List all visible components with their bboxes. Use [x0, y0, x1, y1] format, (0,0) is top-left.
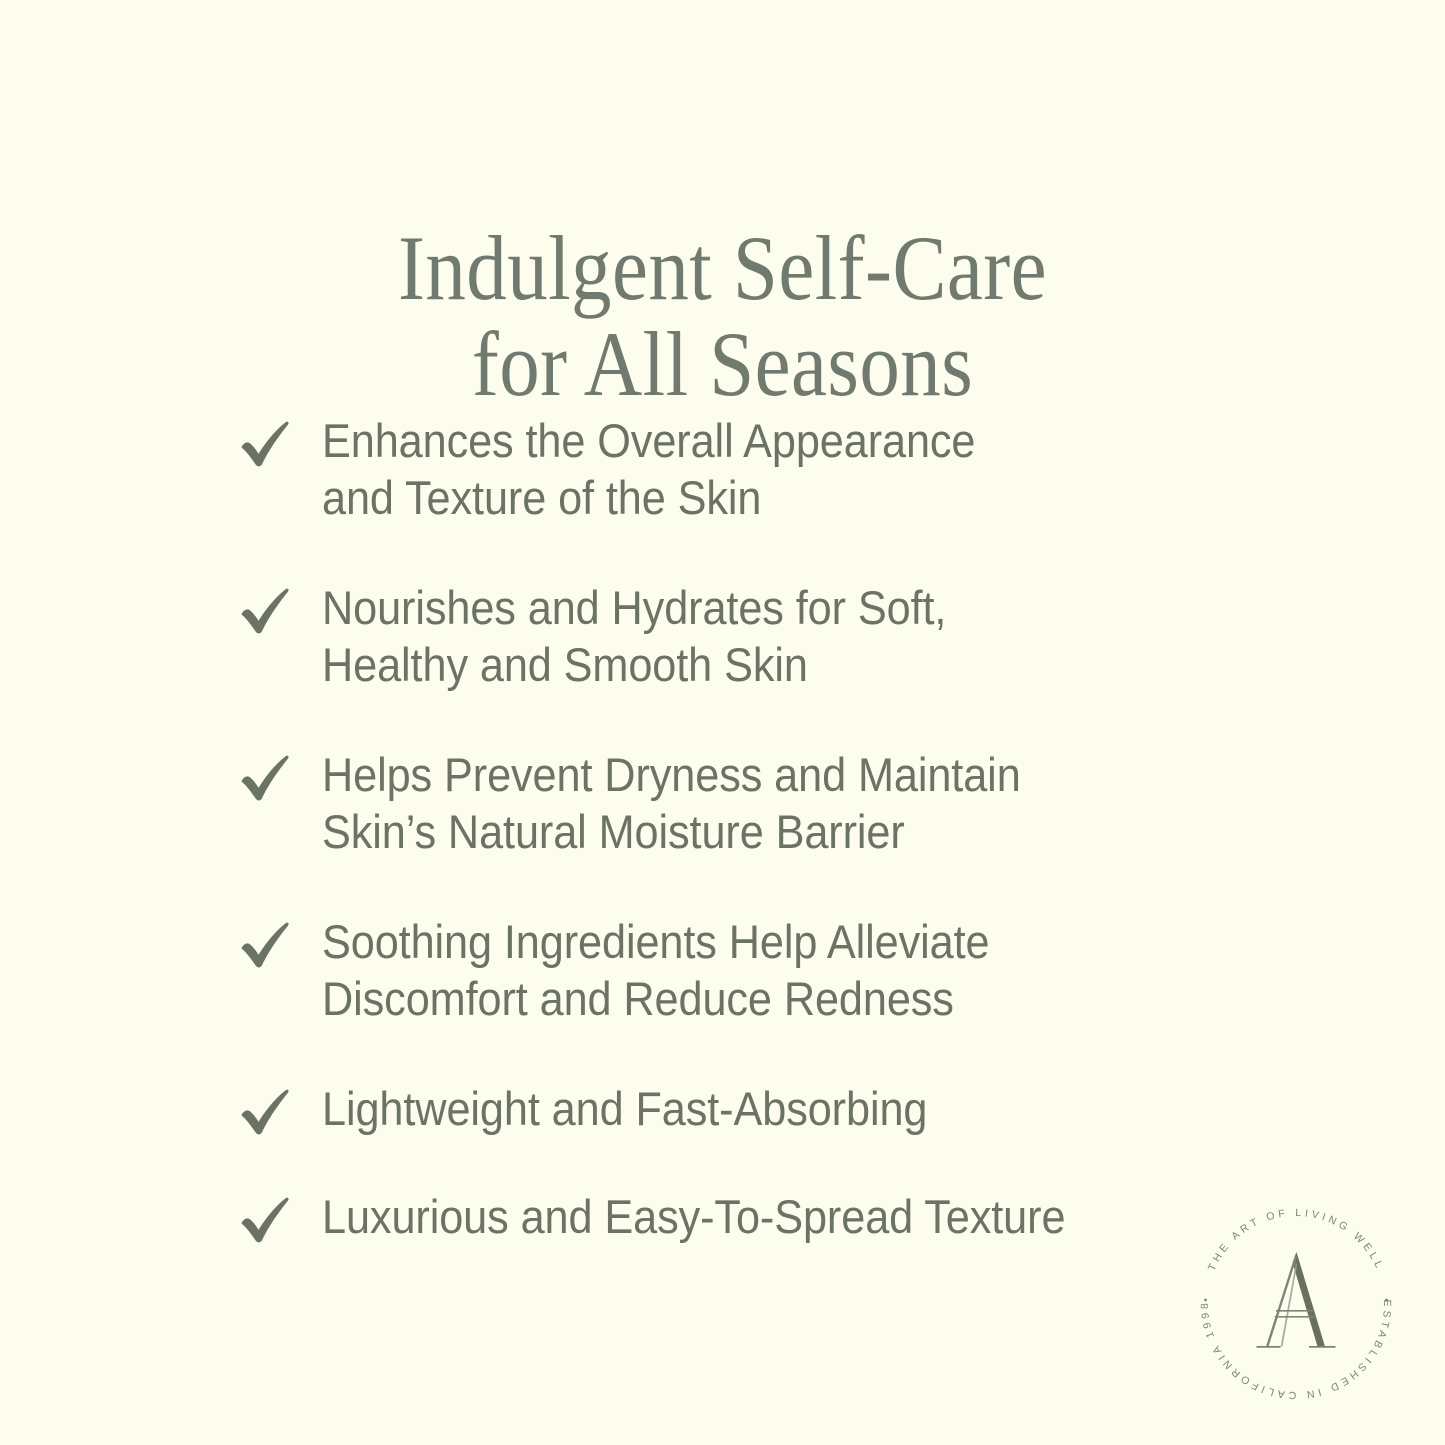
- list-item: Helps Prevent Dryness and Maintain Skin’…: [238, 746, 1198, 860]
- checkmark-icon: [238, 585, 294, 637]
- benefits-list: Enhances the Overall Appearance and Text…: [238, 412, 1198, 1245]
- list-item: Enhances the Overall Appearance and Text…: [238, 412, 1198, 526]
- page-title-line-1: Indulgent Self-Care: [87, 220, 1359, 316]
- seal-separator-dot-right: [1385, 1299, 1388, 1302]
- brand-seal-logo: THE ART OF LIVING WELL ESTABLISHED IN CA…: [1192, 1200, 1400, 1408]
- list-item: Nourishes and Hydrates for Soft, Healthy…: [238, 579, 1198, 693]
- list-item-label: Luxurious and Easy-To-Spread Texture: [322, 1188, 1128, 1245]
- seal-ring-text-bottom: ESTABLISHED IN CALIFORNIA 1998: [1199, 1299, 1393, 1401]
- list-item: Soothing Ingredients Help Alleviate Disc…: [238, 913, 1198, 1027]
- seal-established: ESTABLISHED IN CALIFORNIA 1998: [1199, 1299, 1393, 1401]
- checkmark-icon: [238, 1086, 294, 1138]
- list-item: Lightweight and Fast-Absorbing: [238, 1080, 1198, 1137]
- checkmark-icon: [238, 1194, 294, 1246]
- benefits-card: Indulgent Self-Care for All Seasons Enha…: [0, 0, 1445, 1445]
- list-item-label: Nourishes and Hydrates for Soft, Healthy…: [322, 579, 1128, 693]
- page-title-line-2: for All Seasons: [87, 316, 1359, 412]
- list-item-label: Enhances the Overall Appearance and Text…: [322, 412, 1128, 526]
- list-item: Luxurious and Easy-To-Spread Texture: [238, 1188, 1198, 1245]
- checkmark-icon: [238, 752, 294, 804]
- checkmark-icon: [238, 919, 294, 971]
- list-item-label: Soothing Ingredients Help Alleviate Disc…: [322, 913, 1128, 1027]
- page-title: Indulgent Self-Care for All Seasons: [87, 220, 1359, 412]
- list-item-label: Lightweight and Fast-Absorbing: [322, 1080, 1128, 1137]
- seal-separator-dot-left: [1204, 1299, 1207, 1302]
- seal-monogram-a: [1257, 1252, 1336, 1348]
- list-item-label: Helps Prevent Dryness and Maintain Skin’…: [322, 746, 1128, 860]
- checkmark-icon: [238, 418, 294, 470]
